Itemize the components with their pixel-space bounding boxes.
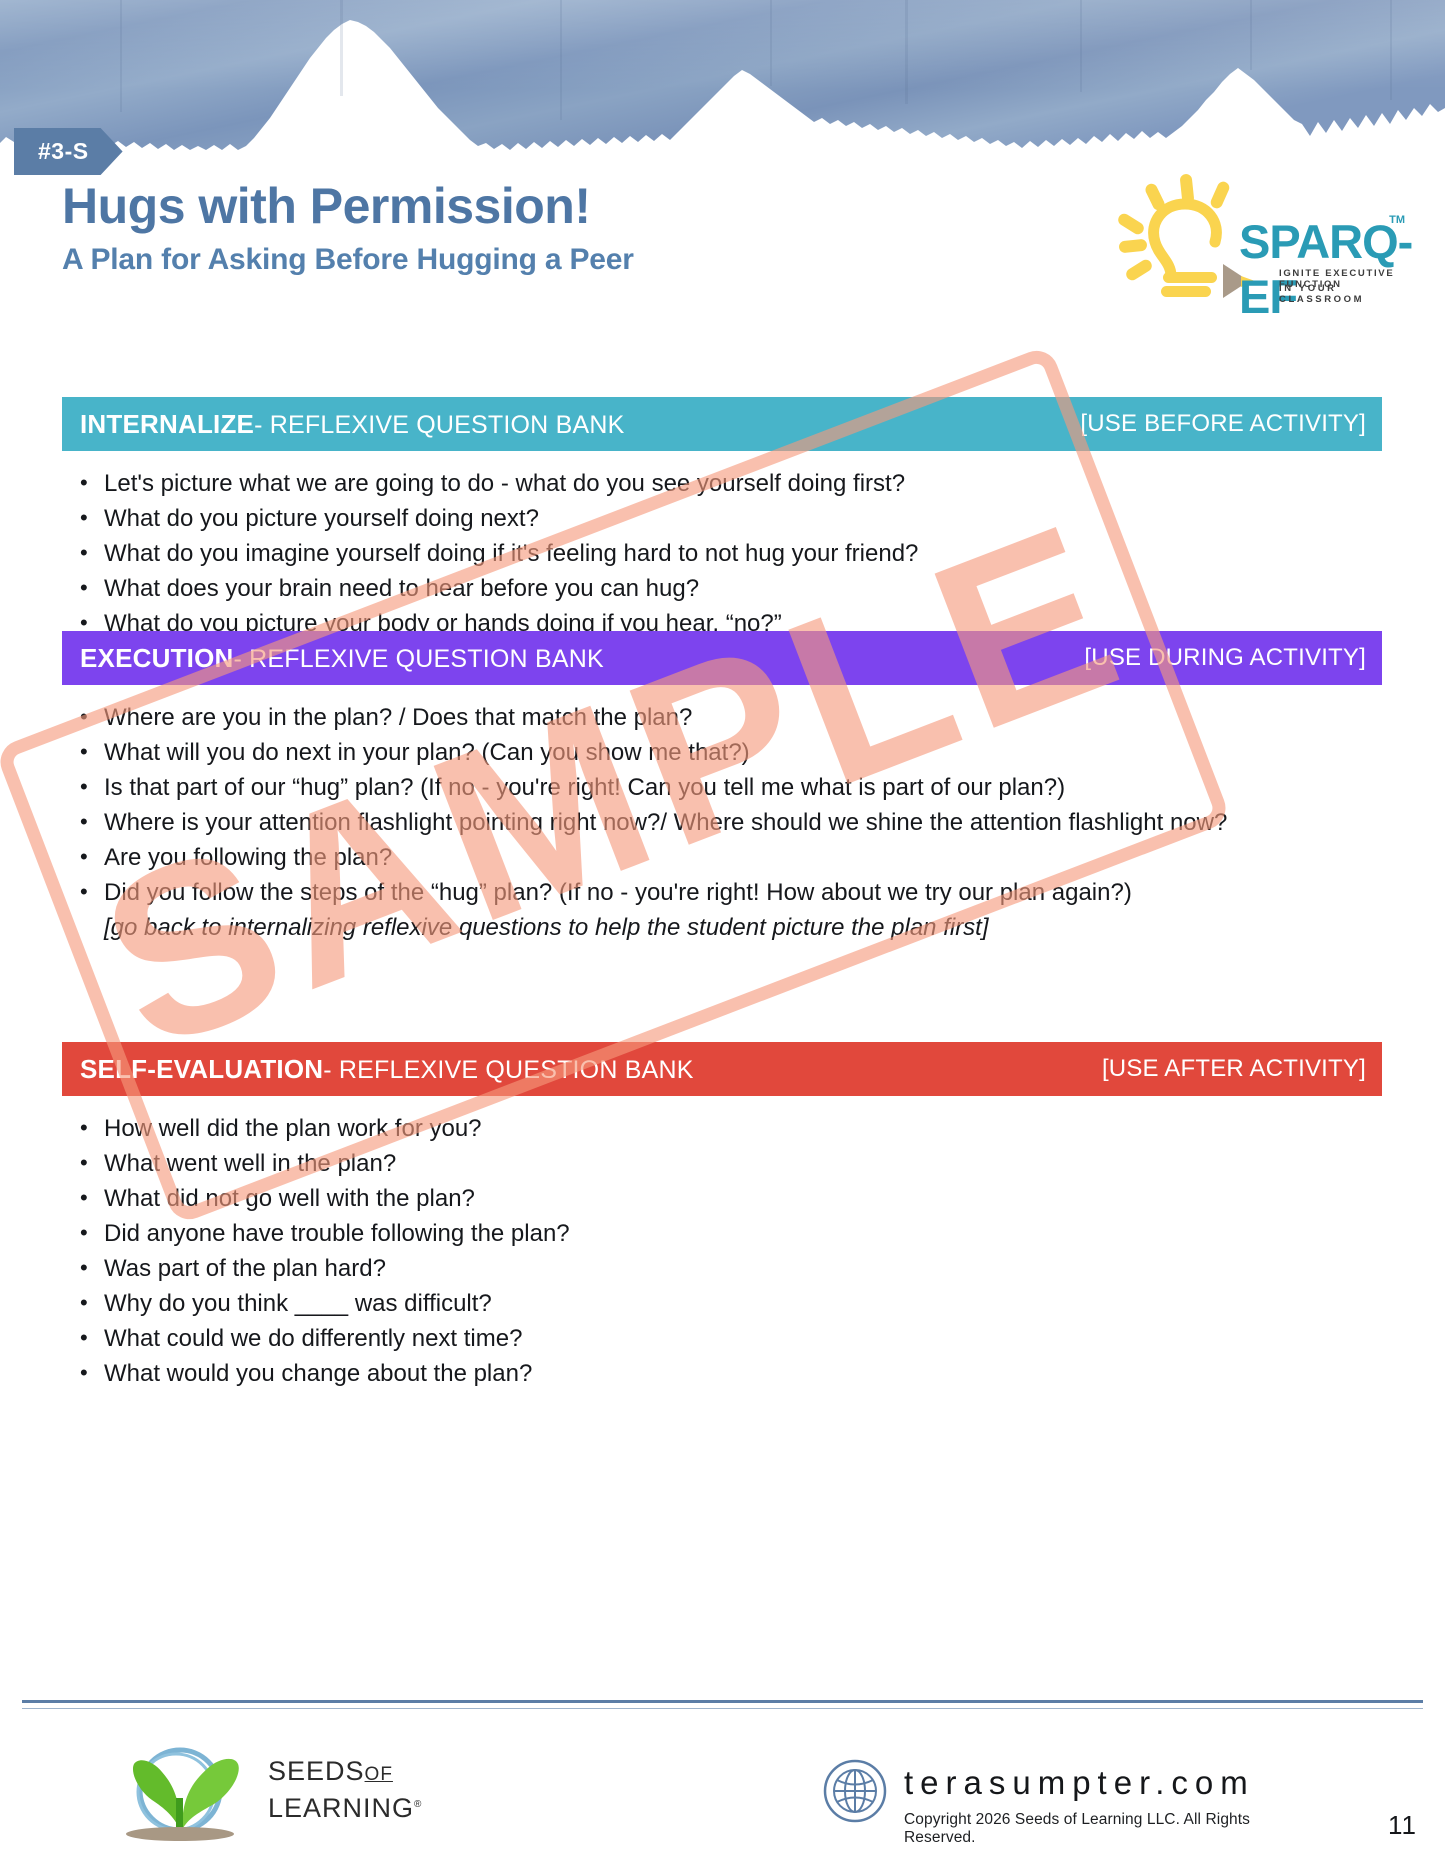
website-block: terasumpter.com Copyright 2026 Seeds of … xyxy=(810,1752,1270,1847)
list-item-text: Did you follow the steps of the “hug” pl… xyxy=(104,879,1132,906)
usage-note-internalize: [USE BEFORE ACTIVITY] xyxy=(1080,410,1366,438)
list-item: What would you change about the plan? xyxy=(62,1356,1382,1391)
copyright-text: Copyright 2026 Seeds of Learning LLC. Al… xyxy=(904,1811,1270,1847)
list-item: Was part of the plan hard? xyxy=(62,1251,1382,1286)
list-item: What will you do next in your plan? (Can… xyxy=(62,735,1382,770)
list-item: What do you imagine yourself doing if it… xyxy=(62,536,1382,571)
list-item: How well did the plan work for you? xyxy=(62,1111,1382,1146)
list-item: What went well in the plan? xyxy=(62,1146,1382,1181)
title-block: Hugs with Permission! A Plan for Asking … xyxy=(62,180,634,277)
list-item-note: [go back to internalizing reflexive ques… xyxy=(104,910,1382,945)
usage-note-execution: [USE DURING ACTIVITY] xyxy=(1084,644,1366,672)
section-title-self-evaluation: SELF-EVALUATION xyxy=(80,1054,323,1085)
page-subtitle: A Plan for Asking Before Hugging a Peer xyxy=(62,243,634,277)
list-item: Why do you think ____ was difficult? xyxy=(62,1286,1382,1321)
question-list-self-evaluation: How well did the plan work for you? What… xyxy=(62,1111,1382,1391)
seeds-line1: SEEDS xyxy=(268,1756,365,1786)
section-subtitle-self-evaluation: - REFLEXIVE QUESTION BANK xyxy=(323,1056,693,1085)
section-title-internalize: INTERNALIZE xyxy=(80,409,254,440)
document-page: #3-S Hugs with Permission! A Plan for As… xyxy=(0,0,1445,1871)
seeds-wordmark: SEEDSOF LEARNING® xyxy=(268,1756,422,1823)
list-item: What does your brain need to hear before… xyxy=(62,571,1382,606)
footer-divider xyxy=(22,1700,1423,1703)
globe-icon xyxy=(822,1758,888,1824)
usage-note-self-evaluation: [USE AFTER ACTIVITY] xyxy=(1102,1055,1366,1083)
page-title: Hugs with Permission! xyxy=(62,180,634,233)
list-item: Where are you in the plan? / Does that m… xyxy=(62,700,1382,735)
section-header-self-evaluation: SELF-EVALUATION - REFLEXIVE QUESTION BAN… xyxy=(62,1042,1382,1096)
question-list-execution: Where are you in the plan? / Does that m… xyxy=(62,700,1382,945)
list-item: Did anyone have trouble following the pl… xyxy=(62,1216,1382,1251)
logo-tagline-line2: IN YOUR CLASSROOM xyxy=(1279,283,1403,305)
section-header-execution: EXECUTION - REFLEXIVE QUESTION BANK [USE… xyxy=(62,631,1382,685)
torn-paper-header xyxy=(0,0,1445,150)
seeds-line2: LEARNING xyxy=(268,1793,414,1823)
sparq-ef-logo: SPARQ-EF TM IGNITE EXECUTIVE FUNCTION IN… xyxy=(1111,172,1403,302)
list-item: What do you picture yourself doing next? xyxy=(62,501,1382,536)
list-item: What could we do differently next time? xyxy=(62,1321,1382,1356)
list-item: Is that part of our “hug” plan? (If no -… xyxy=(62,770,1382,805)
torn-edge-graphic xyxy=(0,0,1445,150)
registered-mark: ® xyxy=(414,1799,422,1810)
sprout-icon xyxy=(118,1742,258,1842)
trademark-symbol: TM xyxy=(1389,214,1405,226)
page-number: 11 xyxy=(1388,1810,1417,1841)
section-number-badge: #3-S xyxy=(14,128,123,175)
list-item: Did you follow the steps of the “hug” pl… xyxy=(62,875,1382,945)
section-subtitle-execution: - REFLEXIVE QUESTION BANK xyxy=(233,645,603,674)
list-item: Where is your attention flashlight point… xyxy=(62,805,1382,840)
section-title-execution: EXECUTION xyxy=(80,643,233,674)
section-subtitle-internalize: - REFLEXIVE QUESTION BANK xyxy=(254,411,624,440)
list-item: Are you following the plan? xyxy=(62,840,1382,875)
seeds-of-learning-logo: SEEDSOF LEARNING® xyxy=(118,1742,338,1847)
list-item: Let's picture what we are going to do - … xyxy=(62,466,1382,501)
footer-divider-thin xyxy=(22,1708,1423,1709)
section-header-internalize: INTERNALIZE - REFLEXIVE QUESTION BANK [U… xyxy=(62,397,1382,451)
list-item: What did not go well with the plan? xyxy=(62,1181,1382,1216)
seeds-of: OF xyxy=(365,1764,393,1785)
website-url[interactable]: terasumpter.com xyxy=(904,1764,1255,1802)
